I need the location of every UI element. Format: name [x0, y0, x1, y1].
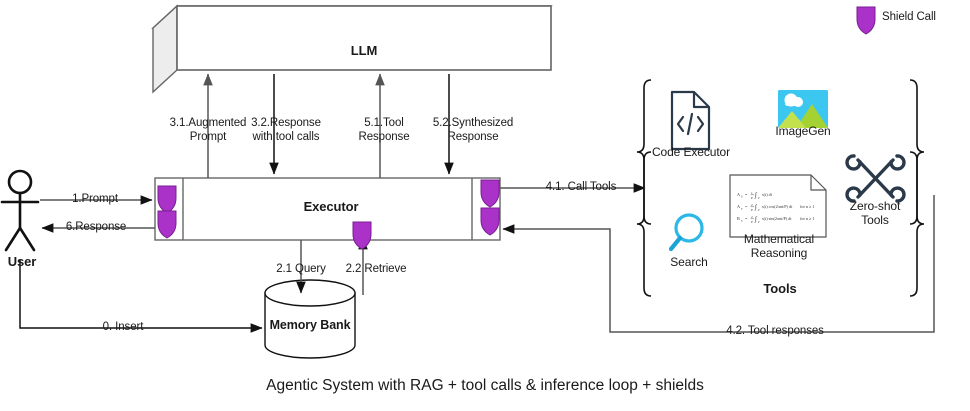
tools-brace-right: [910, 80, 924, 296]
user-node: [2, 171, 38, 250]
diagram-vector-layer: A0 = 1 P ∫ P s(t) dt An = 2 P ∫ P s(t) c…: [0, 0, 970, 411]
svg-text:for n ≥ 1: for n ≥ 1: [800, 216, 815, 221]
tools-group-label: Tools: [740, 282, 820, 296]
legend-shield-label: Shield Call: [882, 11, 968, 25]
edge-label-2-2-retrieve: 2.2 Retrieve: [335, 263, 417, 277]
shield-legend-icon: [857, 7, 875, 34]
svg-text:s(t) dt: s(t) dt: [762, 192, 773, 197]
tool-label-mathematical-reasoning: Mathematical Reasoning: [733, 233, 825, 260]
edge-label-6-response: 6.Response: [52, 221, 140, 235]
svg-text:1: 1: [751, 191, 753, 195]
tool-label-search: Search: [659, 256, 719, 270]
edge-0-insert: [20, 260, 262, 328]
crossed-wrenches-icon: [847, 156, 904, 201]
svg-text:P: P: [751, 220, 753, 224]
tool-label-imagegen: ImageGen: [768, 125, 838, 139]
svg-text:P: P: [751, 196, 753, 200]
edge-label-5-1: 5.1.Tool Response: [345, 117, 423, 144]
svg-text:B: B: [737, 216, 740, 221]
edge-label-4-1-call-tools: 4.1. Call Tools: [538, 181, 624, 195]
user-label: User: [0, 255, 44, 269]
tool-label-zero-shot-tools: Zero-shot Tools: [840, 200, 910, 227]
edge-label-4-2-tool-responses: 4.2. Tool responses: [716, 325, 834, 339]
diagram-canvas: A0 = 1 P ∫ P s(t) dt An = 2 P ∫ P s(t) c…: [0, 0, 970, 411]
svg-text:s(t) sin(2πnt/P) dt: s(t) sin(2πnt/P) dt: [762, 216, 792, 221]
edge-label-0-insert: 0. Insert: [92, 321, 154, 335]
edge-label-2-1-query: 2.1 Query: [265, 263, 337, 277]
edge-label-3-2: 3.2.Response with tool calls: [230, 117, 342, 144]
svg-text:P: P: [751, 208, 753, 212]
svg-text:s(t) cos(2πnt/P) dt: s(t) cos(2πnt/P) dt: [762, 204, 793, 209]
svg-text:2: 2: [751, 215, 753, 219]
diagram-caption: Agentic System with RAG + tool calls & i…: [0, 377, 970, 395]
magnifier-icon: [671, 215, 702, 249]
shield-memory: [353, 222, 371, 249]
tool-label-code-executor: Code Executor: [648, 146, 734, 160]
edge-label-1-prompt: 1.Prompt: [57, 193, 133, 207]
code-document-icon: [672, 92, 709, 149]
llm-label: LLM: [297, 44, 431, 58]
svg-text:A: A: [737, 204, 740, 209]
executor-label: Executor: [264, 200, 398, 214]
edge-label-5-2: 5.2.Synthesized Response: [415, 117, 531, 144]
image-icon: [778, 90, 828, 128]
svg-text:2: 2: [751, 203, 753, 207]
math-document-icon: A0 = 1 P ∫ P s(t) dt An = 2 P ∫ P s(t) c…: [730, 175, 826, 237]
svg-text:A: A: [737, 192, 740, 197]
svg-text:for n ≥ 1: for n ≥ 1: [800, 204, 815, 209]
memory-bank-label: Memory Bank: [255, 319, 365, 333]
